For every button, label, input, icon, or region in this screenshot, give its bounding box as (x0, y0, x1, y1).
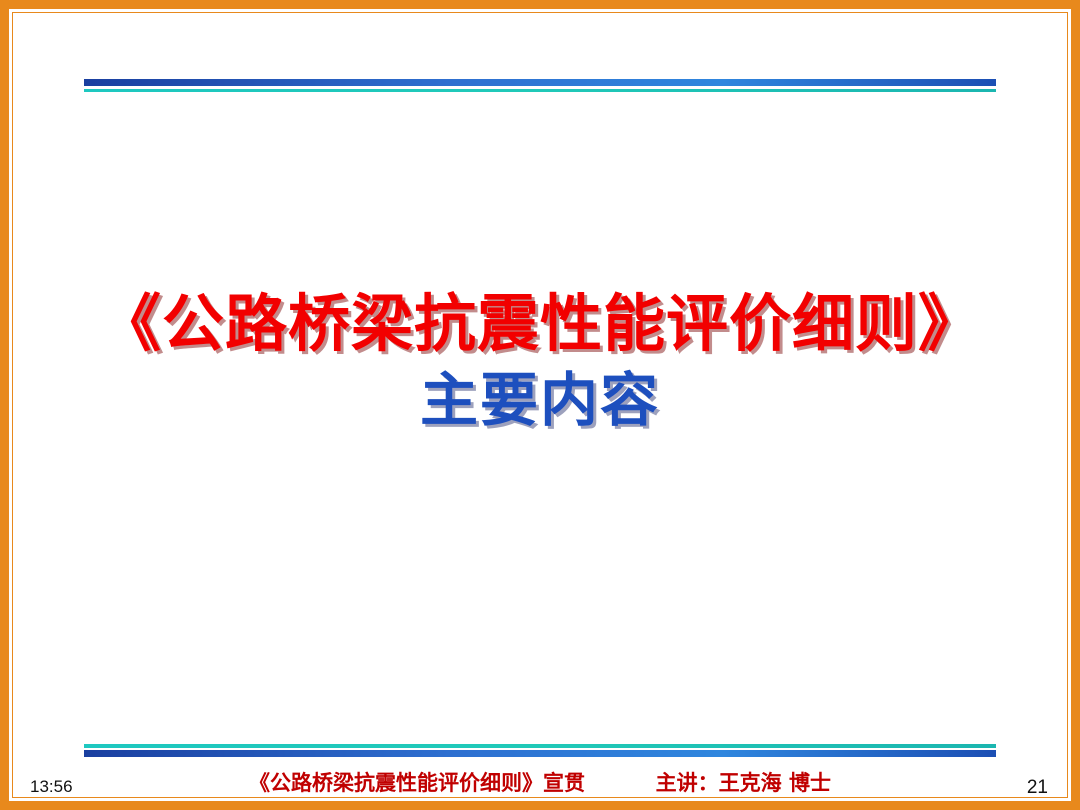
footer-document-title: 《公路桥梁抗震性能评价细则》宣贯 (249, 770, 585, 795)
slide-title-block: 《公路桥梁抗震性能评价细则》 主要内容 (0, 285, 1080, 437)
bottom-divider-teal (84, 744, 996, 748)
slide-title-secondary: 主要内容 (0, 363, 1080, 437)
top-divider-blue (84, 79, 996, 86)
footer-presenter: 主讲：王克海 博士 (656, 770, 831, 795)
top-divider-teal (84, 89, 996, 92)
slide-canvas: 《公路桥梁抗震性能评价细则》 主要内容 13:56 《公路桥梁抗震性能评价细则》… (0, 0, 1080, 810)
bottom-divider-blue (84, 750, 996, 757)
footer-title-row: 《公路桥梁抗震性能评价细则》宣贯 主讲：王克海 博士 (0, 767, 1080, 797)
footer-page-number: 21 (1027, 777, 1048, 799)
slide-footer: 13:56 《公路桥梁抗震性能评价细则》宣贯 主讲：王克海 博士 21 (0, 759, 1080, 807)
slide-title-primary: 《公路桥梁抗震性能评价细则》 (0, 285, 1080, 363)
